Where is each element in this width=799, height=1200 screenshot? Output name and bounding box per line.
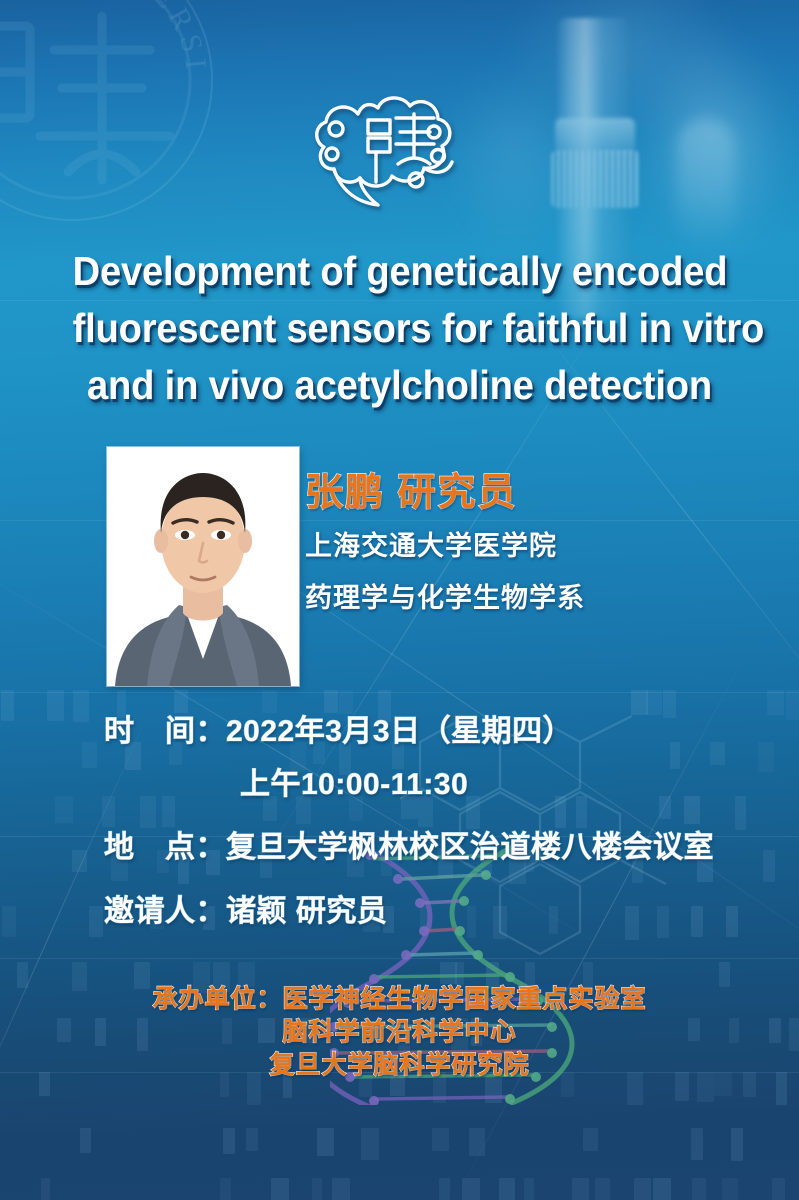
seminar-poster: FUDAN UNIVERSITY xyxy=(0,0,799,1200)
event-inviter: 邀请人：诸颖 研究员 xyxy=(104,886,387,937)
event-time-second-line: 上午10:00-11:30 xyxy=(240,759,468,810)
speaker-affiliation-line-1: 上海交通大学医学院 xyxy=(305,520,745,572)
page-title: Development of genetically encoded fluor… xyxy=(28,243,771,414)
title-line-2: fluorescent sensors for faithful in vitr… xyxy=(73,300,727,357)
speaker-affiliation-line-2: 药理学与化学生物学系 xyxy=(305,572,745,624)
brain-calligraphy-logo xyxy=(310,84,490,210)
speaker-info: 张鹏 研究员 上海交通大学医学院 药理学与化学生物学系 xyxy=(305,466,745,624)
organizer-line-1: 承办单位：医学神经生物学国家重点实验室 xyxy=(0,983,799,1016)
title-line-1: Development of genetically encoded xyxy=(73,243,727,300)
event-location: 地 点：复旦大学枫林校区治道楼八楼会议室 xyxy=(104,822,714,873)
svg-text:FUDAN UNIVERSITY: FUDAN UNIVERSITY xyxy=(0,0,213,77)
speaker-portrait xyxy=(107,447,299,686)
event-time: 时 间：2022年3月3日（星期四） xyxy=(104,706,573,757)
organizer-line-3: 复旦大学脑科学研究院 xyxy=(0,1049,799,1082)
fudan-university-seal-watermark: FUDAN UNIVERSITY xyxy=(0,0,222,230)
organizer-line-2: 脑科学前沿科学中心 xyxy=(0,1016,799,1049)
title-line-3: and in vivo acetylcholine detection xyxy=(73,357,727,414)
gel-band-blocks xyxy=(0,680,799,1200)
organizers: 承办单位：医学神经生物学国家重点实验室 脑科学前沿科学中心 复旦大学脑科学研究院 xyxy=(0,983,799,1082)
speaker-name: 张鹏 研究员 xyxy=(305,466,745,520)
